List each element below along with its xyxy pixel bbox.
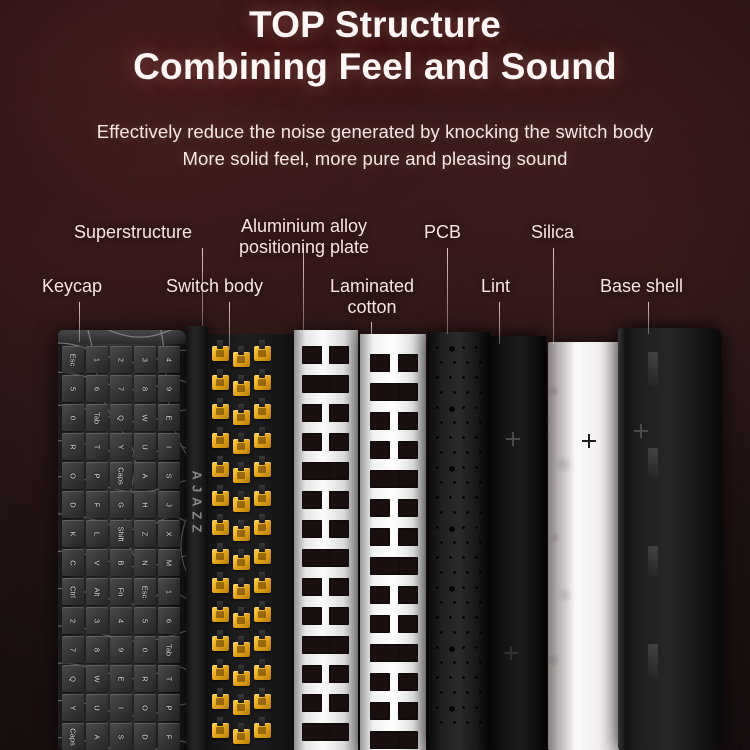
keycap-legend: Esc <box>141 585 150 598</box>
pcb-hole <box>479 421 482 424</box>
switch-grid <box>208 334 294 750</box>
pcb-hole <box>449 376 452 379</box>
keycap-legend: 2 <box>117 357 126 361</box>
layer-lint <box>490 336 546 750</box>
keycap-legend: G <box>117 502 126 508</box>
plate-cutout <box>329 723 349 741</box>
keycap: X <box>158 520 180 547</box>
pcb-hole <box>475 436 478 439</box>
shell-rail-2 <box>648 448 658 478</box>
plate-cutout <box>370 557 400 575</box>
pcb-hole <box>440 661 443 664</box>
plate-cutout <box>370 499 390 517</box>
pcb-hole <box>462 616 465 619</box>
keycap: J <box>158 491 180 518</box>
switch-stem <box>238 462 244 471</box>
keycap-legend: C <box>69 560 78 565</box>
switch-stem <box>217 717 223 726</box>
keycap: H <box>134 491 156 518</box>
keycap-legend: S <box>165 473 174 478</box>
keycap: G <box>110 491 132 518</box>
keycap-legend: 5 <box>141 618 150 622</box>
pcb-hole <box>466 481 469 484</box>
pcb-hole <box>466 631 469 634</box>
keycap: V <box>86 549 108 576</box>
keycap: A <box>134 462 156 489</box>
keycap: 2 <box>62 607 84 634</box>
keycap: I <box>110 694 132 721</box>
pcb-hole <box>449 616 452 619</box>
switch-stem <box>238 578 244 587</box>
layer-silica <box>548 342 620 750</box>
keycap: Esc <box>134 578 156 605</box>
plate-cutout <box>302 491 322 509</box>
leader-keycap <box>79 302 80 342</box>
pcb-hole <box>453 721 456 724</box>
keycap-legend: J <box>165 503 174 507</box>
switch-stem <box>238 491 244 500</box>
pcb-hole <box>449 436 452 439</box>
pcb-hole <box>462 346 465 349</box>
plate-cutout <box>329 520 349 538</box>
pcb-hole <box>453 451 456 454</box>
plate-cutout <box>329 404 349 422</box>
switch-stem <box>259 630 265 639</box>
title-line-1: TOP Structure <box>0 4 750 46</box>
switch-stem <box>259 659 265 668</box>
pcb-hole <box>466 571 469 574</box>
pcb-hole <box>449 406 455 412</box>
keycap: N <box>134 549 156 576</box>
plate-cutout <box>329 665 349 683</box>
plate-cutout <box>398 644 418 662</box>
pcb-hole <box>440 481 443 484</box>
keycap: 1 <box>158 578 180 605</box>
keycap: Q <box>62 665 84 692</box>
plate-cutout <box>329 375 349 393</box>
keycap-legend: K <box>69 531 78 536</box>
keycap-legend: 1 <box>165 589 174 593</box>
callout-laminated-cotton[interactable]: Laminated cotton <box>322 276 422 318</box>
keycap-legend: I <box>117 706 126 708</box>
pcb-hole <box>475 646 478 649</box>
keycap: 7 <box>110 375 132 402</box>
pcb-hole <box>475 526 478 529</box>
plate-cutout <box>329 549 349 567</box>
keycap-legend: Esc <box>69 353 78 366</box>
pcb-hole <box>449 586 455 592</box>
keycap: D <box>62 491 84 518</box>
pcb-hole <box>436 556 439 559</box>
pcb-hole <box>479 391 482 394</box>
plate-cutout <box>398 731 418 749</box>
pcb-hole <box>462 436 465 439</box>
switch-stem <box>259 485 265 494</box>
plate-cutout <box>302 607 322 625</box>
pcb-hole <box>475 496 478 499</box>
pcb-hole <box>479 721 482 724</box>
plate-cutout <box>370 412 390 430</box>
pcb-hole <box>453 421 456 424</box>
keycap: Ctrl <box>62 578 84 605</box>
keycap: K <box>62 520 84 547</box>
keycap: Shift <box>110 520 132 547</box>
keycap-legend: X <box>165 531 174 536</box>
pcb-hole <box>462 496 465 499</box>
pcb-hole <box>449 556 452 559</box>
switch-stem <box>259 688 265 697</box>
keycap: Caps <box>62 723 84 750</box>
switch-stem <box>238 346 244 355</box>
pcb-hole <box>440 391 443 394</box>
pcb-hole <box>449 676 452 679</box>
callout-switch-body[interactable]: Switch body <box>166 276 263 297</box>
switch-stem <box>238 404 244 413</box>
pcb-hole <box>436 526 439 529</box>
keycap-legend: 1 <box>93 357 102 361</box>
keycap-legend: Caps <box>69 728 78 746</box>
switch-stem <box>217 543 223 552</box>
keycap: T <box>86 433 108 460</box>
leader-laminated-cotton <box>371 322 372 344</box>
keycap-legend: Alt <box>93 587 102 596</box>
callout-laminated-cotton-line1: Laminated <box>330 276 414 296</box>
pcb-hole <box>462 526 465 529</box>
keycap: Fn <box>110 578 132 605</box>
plate-cutout <box>398 354 418 372</box>
keycap-legend: 6 <box>93 386 102 390</box>
keycap: A <box>86 723 108 750</box>
pcb-hole <box>466 691 469 694</box>
keycap-legend: Ctrl <box>69 586 78 598</box>
pcb-hole <box>475 676 478 679</box>
pcb-hole <box>475 346 478 349</box>
plate-cutout <box>329 346 349 364</box>
switch-stem <box>259 572 265 581</box>
shell-rail <box>648 352 658 386</box>
leader-lint <box>499 302 500 344</box>
callout-laminated-cotton-line2: cotton <box>347 297 396 317</box>
plate-cutout <box>398 673 418 691</box>
keycap-legend: E <box>165 415 174 420</box>
plate-cutout <box>302 404 322 422</box>
switch-stem <box>217 514 223 523</box>
brand-label: AJAZZ <box>190 471 205 538</box>
plate-cutout <box>329 462 349 480</box>
switch-stem <box>238 694 244 703</box>
layer-switch-body <box>208 334 294 750</box>
callout-superstructure[interactable]: Superstructure <box>74 222 192 243</box>
switch-stem <box>217 398 223 407</box>
pcb-hole <box>479 451 482 454</box>
keycap: 2 <box>110 346 132 373</box>
plate-cutout <box>329 636 349 654</box>
layer-keycap: Esc1234567890TabQWERTYUIOPCapsASDFGHJKLS… <box>58 330 186 750</box>
pcb-hole <box>462 586 465 589</box>
keycap: 9 <box>110 636 132 663</box>
switch-stem <box>217 572 223 581</box>
pcb-hole <box>436 706 439 709</box>
pcb-hole <box>475 376 478 379</box>
pcb-hole <box>466 601 469 604</box>
keycap-legend: 0 <box>141 647 150 651</box>
keycap-legend: W <box>93 675 102 682</box>
switch-stem <box>217 601 223 610</box>
pcb-hole <box>436 616 439 619</box>
pcb-hole <box>436 646 439 649</box>
pcb-hole <box>462 376 465 379</box>
keycap-legend: 5 <box>69 386 78 390</box>
keycap: W <box>134 404 156 431</box>
keycap: O <box>62 462 84 489</box>
keycap-legend: 4 <box>165 357 174 361</box>
keycap-legend: T <box>93 444 102 449</box>
layer-laminated-cotton <box>360 334 426 750</box>
pcb-hole <box>453 601 456 604</box>
keycap-legend: D <box>69 502 78 507</box>
keycap: F <box>158 723 180 750</box>
keycap: L <box>86 520 108 547</box>
plate-cutout <box>370 528 390 546</box>
pcb-hole <box>453 391 456 394</box>
keycap-legend: Y <box>69 705 78 710</box>
switch-stem <box>238 665 244 674</box>
pcb-hole <box>453 571 456 574</box>
keycap: P <box>158 694 180 721</box>
shell-rail-3 <box>648 546 658 576</box>
pcb-hole <box>453 541 456 544</box>
pcb-hole <box>436 586 439 589</box>
pcb-hole <box>466 721 469 724</box>
keycap: F <box>86 491 108 518</box>
pcb-hole <box>436 496 439 499</box>
subtitle-line-1: Effectively reduce the noise generated b… <box>0 118 750 145</box>
keycap-legend: 2 <box>69 618 78 622</box>
plate-cutout <box>302 665 322 683</box>
keycap: R <box>134 665 156 692</box>
layer-superstructure: AJAZZ <box>186 326 208 750</box>
pcb-hole <box>436 676 439 679</box>
pcb-hole <box>479 631 482 634</box>
callout-lint[interactable]: Lint <box>481 276 510 297</box>
callout-positioning-plate-line1: Aluminium alloy <box>241 216 367 236</box>
pcb-hole <box>440 721 443 724</box>
keycap: Y <box>62 694 84 721</box>
plate-cutout <box>398 557 418 575</box>
pcb-hole <box>440 421 443 424</box>
keycap: W <box>86 665 108 692</box>
keycap-legend: Y <box>117 444 126 449</box>
switch-stem <box>259 543 265 552</box>
plate-cutout <box>398 528 418 546</box>
subtitle-block: Effectively reduce the noise generated b… <box>0 118 750 172</box>
callout-keycap[interactable]: Keycap <box>42 276 102 297</box>
keycap-legend: T <box>165 676 174 681</box>
keycap: R <box>62 433 84 460</box>
keycap-legend: P <box>165 705 174 710</box>
keycap-legend: U <box>93 705 102 710</box>
leader-base-shell <box>648 302 649 334</box>
switch-stem <box>238 375 244 384</box>
switch-stem <box>259 427 265 436</box>
pcb-hole <box>453 361 456 364</box>
pcb-hole <box>466 391 469 394</box>
plate-cutout <box>370 383 400 401</box>
plate-cutout <box>370 673 390 691</box>
plate-hole-grid <box>294 330 358 750</box>
keycap-legend: Q <box>117 415 126 421</box>
plate-cutout <box>302 375 332 393</box>
keycap: Alt <box>86 578 108 605</box>
keycap: 1 <box>86 346 108 373</box>
pcb-hole <box>462 676 465 679</box>
layer-base-shell <box>618 328 722 750</box>
leader-positioning-plate <box>303 248 304 330</box>
pcb-hole <box>436 436 439 439</box>
plate-cutout <box>329 607 349 625</box>
keycap-legend: Shift <box>117 526 126 541</box>
pcb-hole <box>440 361 443 364</box>
keycap: E <box>110 665 132 692</box>
plate-cutout <box>329 578 349 596</box>
pcb-hole <box>440 451 443 454</box>
pcb-hole <box>449 466 455 472</box>
layer-pcb <box>428 332 490 750</box>
keycap-legend: V <box>93 560 102 565</box>
pcb-hole <box>440 631 443 634</box>
pcb-hole <box>479 481 482 484</box>
keycap-legend: Tab <box>165 643 174 655</box>
pcb-hole <box>479 541 482 544</box>
pcb-hole <box>440 601 443 604</box>
plate-cutout <box>398 702 418 720</box>
plate-cutout <box>398 586 418 604</box>
keycap-legend: I <box>165 445 174 447</box>
keycap-legend: Caps <box>117 467 126 485</box>
plate-cutout <box>302 346 322 364</box>
callout-base-shell[interactable]: Base shell <box>600 276 683 297</box>
keycap-legend: 8 <box>141 386 150 390</box>
keycap-legend: N <box>141 560 150 565</box>
keycap-legend: B <box>117 560 126 565</box>
switch-stem <box>259 340 265 349</box>
plate-cutout <box>398 441 418 459</box>
pcb-hole <box>466 511 469 514</box>
keycap-legend: 3 <box>141 357 150 361</box>
keycap: O <box>134 694 156 721</box>
keycap: 7 <box>62 636 84 663</box>
switch-stem <box>238 520 244 529</box>
switch-stem <box>238 636 244 645</box>
pcb-hole <box>462 466 465 469</box>
keycap: U <box>134 433 156 460</box>
keycap: Z <box>134 520 156 547</box>
pcb-hole <box>440 541 443 544</box>
callout-positioning-plate-line2: positioning plate <box>239 237 369 257</box>
shell-screw-mark <box>634 424 648 438</box>
plate-cutout <box>329 694 349 712</box>
leader-switch-body <box>229 302 230 350</box>
shell-left-edge <box>618 328 625 750</box>
keycap: S <box>158 462 180 489</box>
keycap-legend: O <box>141 705 150 711</box>
keycap: Tab <box>158 636 180 663</box>
layer-positioning-plate <box>294 330 358 750</box>
title-line-2: Combining Feel and Sound <box>0 46 750 88</box>
pcb-hole <box>453 691 456 694</box>
cotton-hole-grid <box>360 334 426 750</box>
subtitle-line-2: More solid feel, more pure and pleasing … <box>0 145 750 172</box>
keycap: S <box>110 723 132 750</box>
pcb-hole <box>479 601 482 604</box>
keycap-legend: H <box>141 502 150 507</box>
pcb-hole <box>466 361 469 364</box>
pcb-hole <box>449 526 455 532</box>
pcb-hole <box>453 511 456 514</box>
pcb-hole <box>475 586 478 589</box>
pcb-hole <box>475 466 478 469</box>
keycap: 4 <box>110 607 132 634</box>
switch-stem <box>259 369 265 378</box>
keycap: 8 <box>134 375 156 402</box>
switch-stem <box>217 485 223 494</box>
silica-texture <box>548 342 575 750</box>
lint-screw-mark-2 <box>504 646 518 660</box>
plate-cutout <box>302 694 322 712</box>
pcb-hole <box>453 481 456 484</box>
keycap: D <box>134 723 156 750</box>
keycap-legend: Tab <box>93 411 102 423</box>
keycap-legend: W <box>141 414 150 421</box>
pcb-hole <box>466 451 469 454</box>
keycap-legend: E <box>117 676 126 681</box>
pcb-hole <box>466 661 469 664</box>
keycap-legend: 7 <box>69 647 78 651</box>
pcb-hole <box>440 691 443 694</box>
keycap: P <box>86 462 108 489</box>
pcb-hole <box>466 421 469 424</box>
plate-cutout <box>302 433 322 451</box>
plate-cutout <box>370 731 400 749</box>
keycap: 0 <box>134 636 156 663</box>
pcb-hole <box>466 541 469 544</box>
keycap: 3 <box>86 607 108 634</box>
keycap-legend: 3 <box>93 618 102 622</box>
keycap-legend: Z <box>141 531 150 536</box>
plate-cutout <box>302 462 332 480</box>
keycap: I <box>158 433 180 460</box>
keycap-legend: O <box>69 473 78 479</box>
headline-block: TOP Structure Combining Feel and Sound <box>0 4 750 88</box>
switch-stem <box>238 433 244 442</box>
keycap-legend: 9 <box>165 386 174 390</box>
pcb-hole <box>462 556 465 559</box>
callout-silica[interactable]: Silica <box>531 222 574 243</box>
callout-pcb[interactable]: PCB <box>424 222 461 243</box>
pcb-hole <box>436 376 439 379</box>
leader-silica <box>553 248 554 344</box>
callout-positioning-plate[interactable]: Aluminium alloy positioning plate <box>224 216 384 258</box>
plate-cutout <box>398 615 418 633</box>
keycap-legend: D <box>141 734 150 739</box>
plate-cutout <box>398 499 418 517</box>
keycap-legend: A <box>93 734 102 739</box>
pcb-hole <box>475 406 478 409</box>
keycap-legend: P <box>93 473 102 478</box>
plate-cutout <box>370 354 390 372</box>
keycap-legend: 8 <box>93 647 102 651</box>
switch-stem <box>217 340 223 349</box>
